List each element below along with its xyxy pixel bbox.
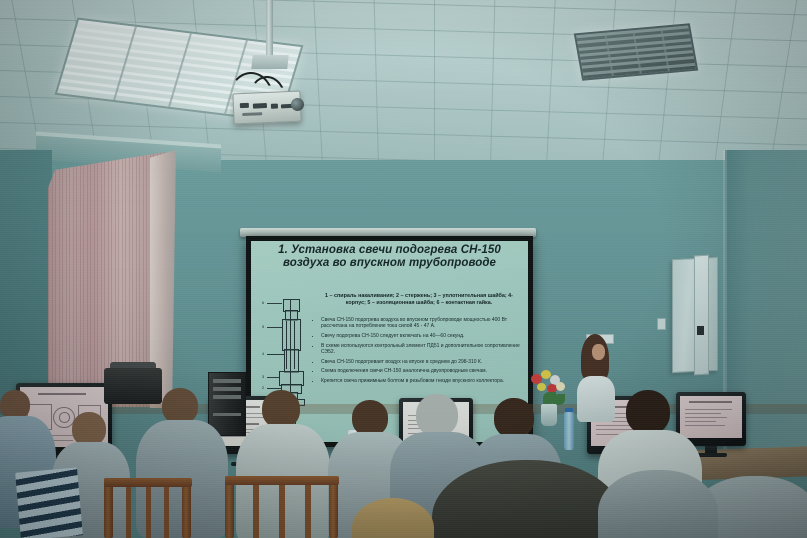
presenter-torso (577, 376, 615, 422)
slide-bullet: Свеча СН-150 подогрева воздуха во впускн… (321, 317, 525, 330)
head (626, 390, 670, 434)
head (162, 388, 198, 424)
head (262, 390, 300, 428)
classroom-photo: 1. Установка свечи подогрева СН-150 возд… (0, 0, 807, 538)
slide-bullet: Крепится свеча прижимным болтом в резьбо… (321, 378, 525, 384)
slide-bullet: Свеча СН-150 подогревает воздух на впуск… (321, 359, 525, 365)
air-conditioner-panel (694, 255, 709, 376)
slide-bullet-list: Свеча СН-150 подогрева воздуха во впускн… (313, 317, 525, 387)
head-grey-hair (416, 394, 458, 436)
presenter-face (592, 344, 605, 360)
head (72, 412, 106, 446)
projector-mount-pole (266, 0, 273, 58)
striped-towel (15, 467, 83, 538)
water-bottle-blue (564, 412, 574, 450)
fluorescent-light-off (574, 23, 698, 80)
slide-bullet: В схеме используются контрольный элемент… (321, 343, 525, 356)
torso (598, 470, 718, 538)
wall-switch (657, 318, 666, 330)
head (352, 400, 388, 436)
slide-title: 1. Установка свечи подогрева СН-150 возд… (251, 241, 528, 270)
dark-appliance (104, 368, 162, 404)
slide-bullet: Схема подключения свечи СН-150 аналогичн… (321, 368, 525, 374)
monitor-far-right-screen (680, 396, 742, 438)
flower-vase (541, 404, 557, 426)
projector-bracket (251, 55, 288, 69)
slide-bullet: Свечу подогрева СН-150 следует включать … (321, 333, 525, 339)
head (494, 398, 534, 438)
pc-tower (208, 372, 246, 436)
slide-figure-caption: 1 – спираль накаливания; 2 – стержень; 3… (317, 293, 521, 306)
air-conditioner-display (697, 326, 704, 335)
